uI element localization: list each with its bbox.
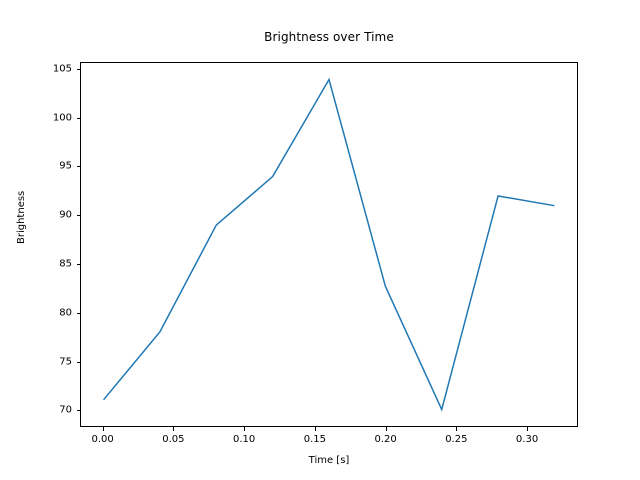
x-tick-mark xyxy=(315,427,316,431)
y-tick-label: 90 xyxy=(40,210,72,221)
chart-title: Brightness over Time xyxy=(80,30,578,44)
x-tick-label: 0.00 xyxy=(91,434,113,445)
y-tick-label: 80 xyxy=(40,307,72,318)
y-tick-label: 95 xyxy=(40,161,72,172)
x-tick-mark xyxy=(456,427,457,431)
x-tick-label: 0.30 xyxy=(516,434,538,445)
plot-area xyxy=(80,62,578,427)
x-tick-mark xyxy=(103,427,104,431)
x-tick-mark xyxy=(173,427,174,431)
y-tick-label: 100 xyxy=(40,112,72,123)
y-tick-label: 105 xyxy=(40,63,72,74)
data-series-brightness xyxy=(104,79,555,409)
y-axis-label: Brightness xyxy=(16,191,27,244)
data-line-svg xyxy=(81,63,577,426)
y-tick-label: 70 xyxy=(40,405,72,416)
y-tick-label: 75 xyxy=(40,356,72,367)
x-axis-label: Time [s] xyxy=(80,455,578,466)
x-tick-label: 0.25 xyxy=(445,434,467,445)
x-tick-label: 0.15 xyxy=(304,434,326,445)
figure-canvas: Brightness over Time Brightness Time [s]… xyxy=(0,0,640,480)
x-tick-label: 0.05 xyxy=(162,434,184,445)
x-tick-mark xyxy=(386,427,387,431)
x-tick-label: 0.20 xyxy=(374,434,396,445)
y-tick-label: 85 xyxy=(40,259,72,270)
x-tick-mark xyxy=(244,427,245,431)
x-tick-mark xyxy=(527,427,528,431)
x-tick-label: 0.10 xyxy=(233,434,255,445)
